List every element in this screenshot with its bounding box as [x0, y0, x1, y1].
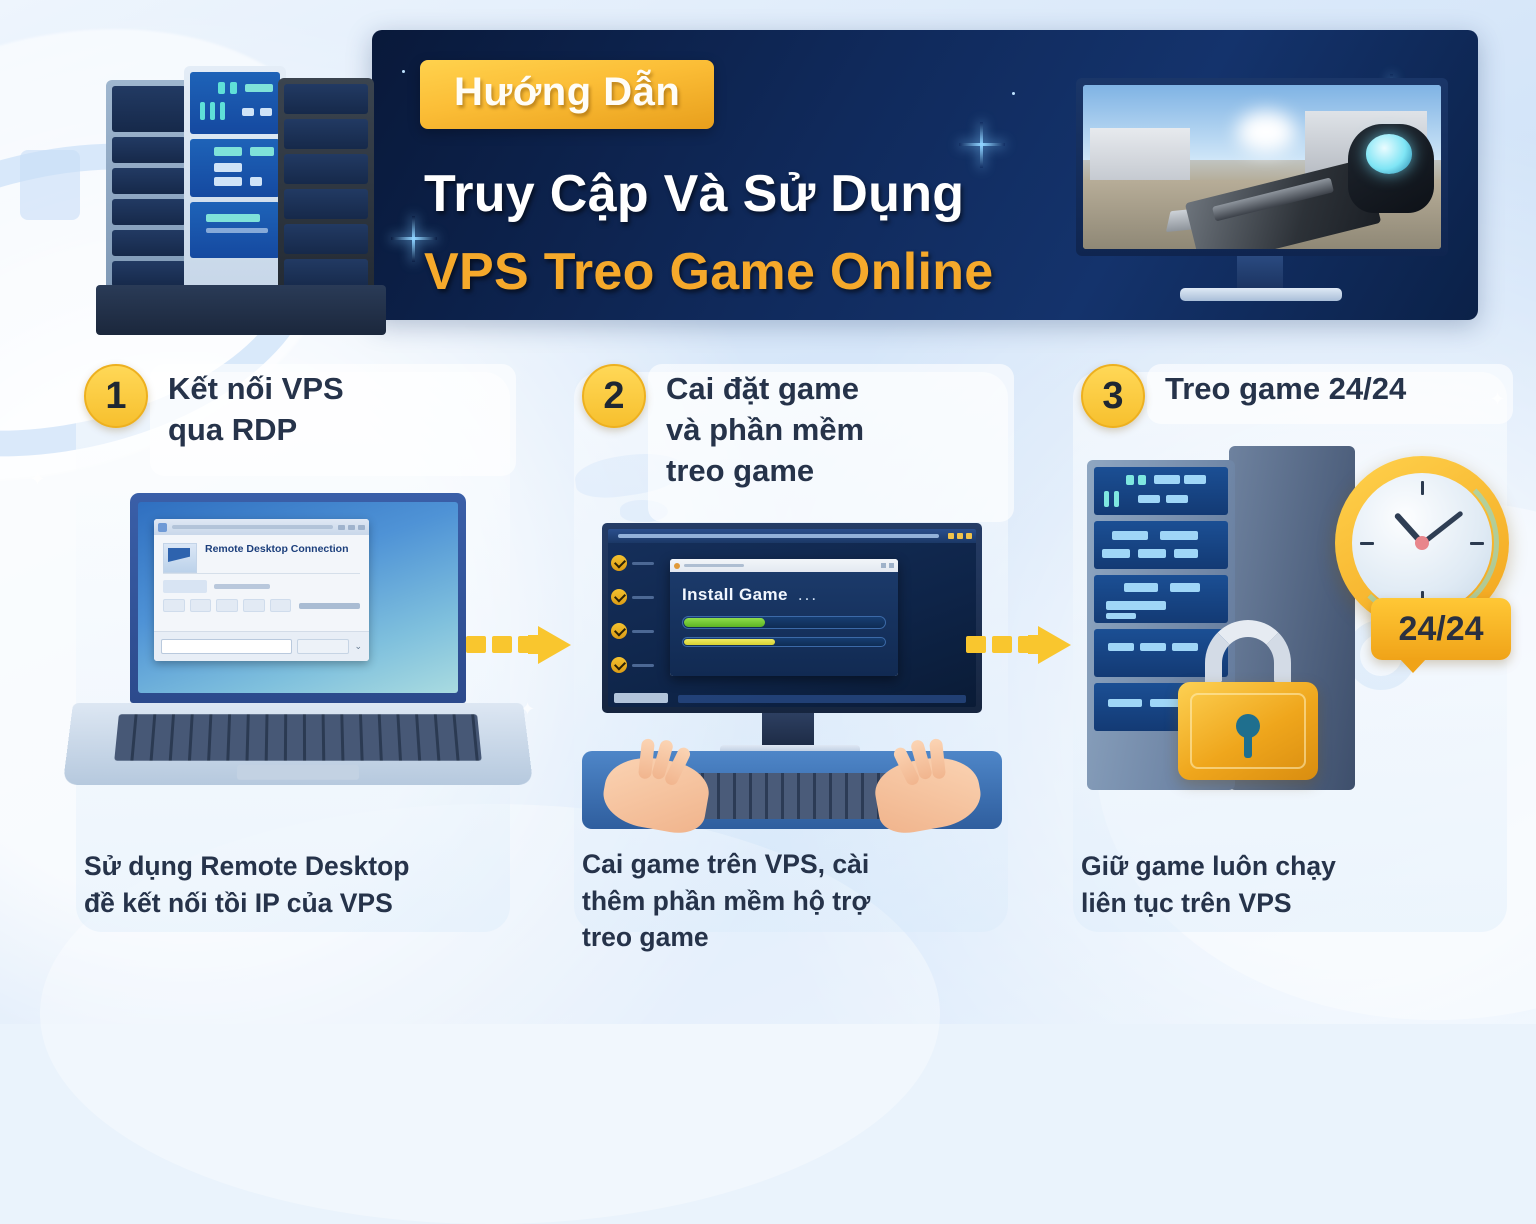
- window-controls[interactable]: [338, 525, 365, 530]
- step-column-3: 3 Treo game 24/24: [1055, 348, 1525, 988]
- dialog-body: Install Game ...: [670, 572, 898, 676]
- infographic-page: ✦ ✦ ✦ Hướng Dẫn Truy Cập Và Sử Dụng VPS …: [0, 0, 1536, 1024]
- taskbar[interactable]: [678, 695, 966, 703]
- server-rack-right: [278, 78, 374, 296]
- rdp-option[interactable]: [243, 599, 265, 612]
- rdp-title-blur: [172, 525, 333, 529]
- gaming-monitor-icon: [1062, 40, 1462, 320]
- install-dialog-title: Install Game: [682, 585, 788, 605]
- monitor-screen: Install Game ...: [608, 529, 976, 707]
- step-caption-2: Cai game trên VPS, cài thêm phần mềm hộ …: [582, 846, 1002, 956]
- rdp-button-row[interactable]: [163, 599, 360, 612]
- step-number-1: 1: [105, 375, 126, 418]
- install-dialog[interactable]: Install Game ...: [670, 559, 898, 676]
- game-scene: [1083, 85, 1441, 249]
- progress-bar-secondary: [682, 637, 886, 647]
- server-bay: [1094, 521, 1228, 569]
- server-rack-icon: [96, 60, 386, 335]
- sparkle-icon: ✦: [30, 470, 45, 488]
- step-number-badge-2: 2: [582, 364, 646, 428]
- server-pedestal-left: [96, 285, 246, 335]
- trackpad[interactable]: [237, 765, 359, 780]
- rdp-option[interactable]: [216, 599, 238, 612]
- step-number-badge-1: 1: [84, 364, 148, 428]
- dialog-title-blur: [684, 564, 744, 567]
- checkmark-icon: [611, 555, 627, 571]
- padlock-keyhole: [1236, 714, 1260, 738]
- step-number-3: 3: [1102, 375, 1123, 418]
- status-badge-2424: 24/24: [1371, 598, 1511, 660]
- server-pedestal-right: [236, 285, 386, 335]
- rdp-tab[interactable]: [163, 580, 207, 593]
- step-caption-3: Giữ game luôn chạy liên tục trên VPS: [1081, 848, 1501, 921]
- rdp-label-blur: [299, 603, 360, 609]
- rdp-logo-icon: [163, 543, 197, 573]
- step-number-badge-3: 3: [1081, 364, 1145, 428]
- rdp-label-blur: [214, 584, 270, 589]
- rdp-tab-row[interactable]: [163, 580, 360, 593]
- rdp-footer: ⌄: [154, 631, 369, 661]
- rdp-option[interactable]: [163, 599, 185, 612]
- loading-dots: ...: [798, 585, 818, 605]
- laptop-icon: Remote Desktop Connection: [68, 493, 528, 823]
- step-heading-1: Kết nối VPS qua RDP: [168, 368, 518, 450]
- tutorial-badge: Hướng Dẫn: [420, 60, 714, 129]
- rdp-body: Remote Desktop Connection: [154, 535, 369, 620]
- connect-button[interactable]: [297, 639, 349, 654]
- step-column-2: 2 Cai đặt game và phần mềm treo game: [556, 348, 1026, 988]
- server-bay: [1094, 575, 1228, 623]
- server-rack-left: [106, 80, 192, 295]
- header-banner: Hướng Dẫn Truy Cập Và Sử Dụng VPS Treo G…: [372, 30, 1478, 320]
- server-bay: [1094, 467, 1228, 515]
- keyboard-icon[interactable]: [114, 714, 482, 760]
- os-titlebar: [608, 529, 976, 543]
- monitor-neck: [762, 713, 814, 747]
- step-number-2: 2: [603, 375, 624, 418]
- desktop-monitor-icon: Install Game ...: [582, 523, 1002, 833]
- window-controls[interactable]: [881, 563, 894, 568]
- chevron-down-icon[interactable]: ⌄: [354, 641, 362, 652]
- step-heading-2: Cai đặt game và phần mềm treo game: [666, 368, 1016, 492]
- checkmark-icon: [611, 589, 627, 605]
- computer-name-input[interactable]: [161, 639, 292, 654]
- server-rack-center: [184, 66, 286, 296]
- laptop-screen: Remote Desktop Connection: [138, 502, 458, 693]
- taskbar-item[interactable]: [614, 693, 668, 703]
- dialog-titlebar: [670, 559, 898, 572]
- header-title-line3: VPS Treo Game Online: [424, 242, 994, 302]
- clock-glow-ring: [1345, 466, 1499, 620]
- step-column-1: 1 Kết nối VPS qua RDP Remote Desktop Con…: [58, 348, 528, 988]
- badge-2424-label: 24/24: [1398, 610, 1483, 649]
- monitor-frame: Install Game ...: [602, 523, 982, 713]
- checkmark-icon: [611, 623, 627, 639]
- rdp-option[interactable]: [270, 599, 292, 612]
- checkmark-icon: [611, 657, 627, 673]
- progress-bar-primary: [682, 616, 886, 629]
- step-caption-1: Sử dụng Remote Desktop đề kết nối tồi IP…: [84, 848, 504, 921]
- padlock-body: [1178, 682, 1318, 780]
- monitor-frame: [1076, 78, 1448, 256]
- tutorial-badge-label: Hướng Dẫn: [454, 70, 680, 114]
- divider: [163, 573, 360, 574]
- step-heading-3: Treo game 24/24: [1165, 368, 1515, 409]
- header-title-line2: Truy Cập Và Sử Dụng: [424, 164, 964, 224]
- laptop-lid: Remote Desktop Connection: [130, 493, 466, 703]
- rdp-titlebar: [154, 519, 369, 535]
- padlock-icon: [1173, 620, 1323, 780]
- step3-illustration: 24/24: [1065, 438, 1515, 838]
- rdp-dialog[interactable]: Remote Desktop Connection: [154, 519, 369, 661]
- monitor-base: [1180, 288, 1342, 301]
- app-icon: [674, 563, 680, 569]
- background-blob: [20, 150, 80, 220]
- monitor-neck: [1237, 256, 1283, 290]
- laptop-base: [63, 703, 534, 785]
- rdp-option[interactable]: [190, 599, 212, 612]
- rdp-app-icon: [158, 523, 167, 532]
